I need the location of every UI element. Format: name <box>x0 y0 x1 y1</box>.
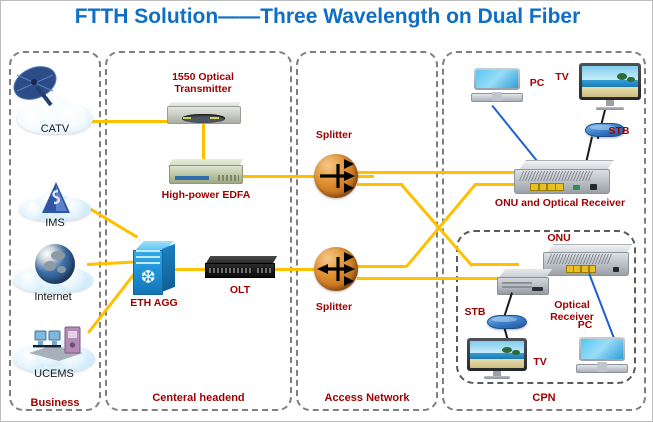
tv-stand-neck <box>606 100 613 106</box>
device-label-stb-bottom: STB <box>461 306 489 318</box>
optical-transmitter-device[interactable] <box>167 102 241 126</box>
onu-front-face <box>543 252 629 276</box>
laptop-trackpad <box>597 362 607 371</box>
zone-label-business: Business <box>9 397 101 409</box>
fiber-splitter-bottom-out-2 <box>357 277 512 280</box>
fiber-splitter-top-out-1 <box>357 171 516 174</box>
edfa-port-array <box>218 175 239 181</box>
device-label-pc-top: PC <box>525 77 549 89</box>
eth-agg-switch[interactable]: ❆ <box>133 241 175 295</box>
switch-side-face <box>162 243 175 291</box>
globe-landmass <box>51 251 65 260</box>
onu-lan-port <box>539 183 548 191</box>
onu-wan-port <box>573 185 580 191</box>
zone-label-cpn: CPN <box>442 392 646 404</box>
onu-power-port <box>613 267 619 273</box>
onu-lan-port <box>530 183 539 191</box>
tv-bezel <box>579 63 641 100</box>
cloud-label-catv: CATV <box>17 123 93 135</box>
fiber-olt-to-access <box>273 268 317 271</box>
onu-vent-grille <box>547 254 613 264</box>
receiver-front-face <box>497 277 549 295</box>
device-label-onu-top: ONU and Optical Receiver <box>465 197 653 209</box>
laptop-trackpad <box>492 92 502 101</box>
laptop-bottom[interactable] <box>576 337 628 373</box>
optical-receiver-bottom[interactable] <box>497 269 549 295</box>
tv-image-sand <box>582 87 638 97</box>
laptop-lid <box>579 337 625 361</box>
snowflake-icon: ❆ <box>139 268 157 290</box>
fiber-cross-up-tail <box>474 183 518 186</box>
laptop-screen <box>581 339 623 359</box>
zone-label-access-network: Access Network <box>296 392 438 404</box>
edfa-display-strip <box>175 176 209 180</box>
onu-bottom[interactable] <box>543 244 629 276</box>
satellite-dish-icon <box>11 63 63 109</box>
olt-port-array <box>257 268 271 273</box>
olt-device[interactable] <box>205 256 275 278</box>
tv-top[interactable] <box>579 63 641 113</box>
device-label-splitter-top: Splitter <box>304 129 364 141</box>
edfa-device[interactable] <box>169 159 243 187</box>
device-label-tv-bottom: TV <box>529 356 551 368</box>
splitter-arrow-glyph <box>314 154 358 198</box>
transmitter-indicator <box>210 117 219 119</box>
receiver-seam <box>502 282 532 284</box>
tv-screen <box>582 66 638 97</box>
splitter-icon-top[interactable] <box>314 154 358 198</box>
globe-landmass <box>44 261 56 271</box>
device-label-edfa: High-power EDFA <box>160 189 252 201</box>
transmitter-indicator <box>183 117 190 119</box>
receiver-seam <box>502 286 532 288</box>
device-label-olt: OLT <box>215 284 265 296</box>
laptop-lid <box>474 68 520 90</box>
receiver-port <box>532 287 543 292</box>
cloud-label-internet: Internet <box>13 291 93 303</box>
switch-port-lines <box>136 250 160 266</box>
device-label-onu-bottom: ONU <box>539 232 579 244</box>
laptop-top[interactable] <box>471 68 523 102</box>
cloud-label-ucems: UCEMS <box>13 368 95 380</box>
device-label-pc-bottom: PC <box>573 319 597 331</box>
olt-port-array <box>209 268 252 273</box>
device-label-stb-top: STB <box>605 125 633 137</box>
fiber-transmitter-to-edfa <box>202 123 205 161</box>
tv-bezel <box>467 338 527 371</box>
device-label-optical-receiver: Optical Receiver <box>536 299 608 323</box>
fiber-splitter-top-out-2 <box>357 183 403 186</box>
globe-icon <box>35 244 75 284</box>
globe-landmass <box>57 266 66 273</box>
tv-screen <box>470 341 524 368</box>
fiber-cross-down-tail <box>471 263 519 266</box>
cloud-label-ims: IMS <box>19 217 91 229</box>
device-label-optical-transmitter: 1550 Optical Transmitter <box>155 71 251 95</box>
tv-bottom[interactable] <box>467 338 527 382</box>
zone-access-network <box>296 51 438 411</box>
stb-highlight <box>492 317 517 322</box>
onu-lan-port <box>589 265 597 273</box>
device-label-tv-top: TV <box>551 71 573 83</box>
onu-lan-port <box>547 183 556 191</box>
workstation-icon <box>25 323 85 363</box>
tv-stand-neck <box>493 371 500 376</box>
splitter-arrow-glyph <box>314 247 358 291</box>
zone-label-central-headend: Centeral headend <box>105 392 292 404</box>
onu-front-face <box>514 169 610 194</box>
onu-power-port <box>590 184 597 190</box>
laptop-screen <box>476 70 518 88</box>
fiber-splitter-bottom-out-1 <box>357 265 406 268</box>
onu-optical-receiver-top[interactable] <box>514 160 610 194</box>
diagram-canvas: FTTH Solution——Three Wavelength on Dual … <box>0 0 653 422</box>
onu-vent-grille <box>519 171 593 181</box>
page-title: FTTH Solution——Three Wavelength on Dual … <box>1 5 653 29</box>
tv-image-sand <box>470 359 524 367</box>
tv-stand-base <box>484 376 510 379</box>
device-label-splitter-bottom: Splitter <box>304 301 364 313</box>
tv-stand-base <box>596 107 623 111</box>
stb-bottom[interactable] <box>487 311 527 333</box>
fiber-catv-to-transmitter <box>89 120 171 123</box>
onu-lan-port <box>555 183 564 191</box>
tv-image-palm <box>627 77 635 83</box>
splitter-icon-bottom[interactable] <box>314 247 358 291</box>
ims-triangle-icon <box>41 181 71 215</box>
device-label-eth-agg: ETH AGG <box>111 297 197 309</box>
tv-image-palm <box>512 350 520 355</box>
